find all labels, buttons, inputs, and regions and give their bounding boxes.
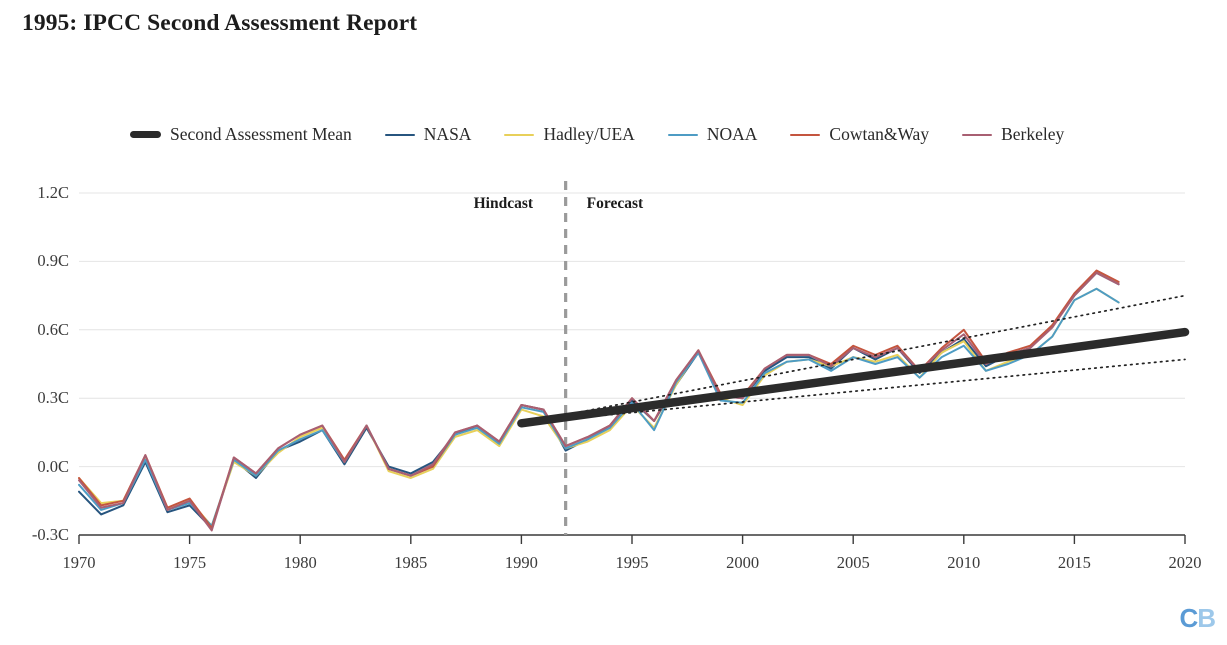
chart-svg: [0, 0, 1227, 645]
x-tick-label: 1995: [597, 553, 667, 573]
projection-upper-bound: [521, 296, 1185, 424]
series-line-hadley-uea: [79, 289, 1119, 526]
series-line-nasa: [79, 273, 1119, 528]
carbon-brief-logo: CB: [1179, 605, 1215, 631]
series-line-noaa: [79, 289, 1119, 526]
y-tick-label: 0.9C: [9, 251, 69, 271]
y-tick-label: 0.6C: [9, 320, 69, 340]
x-tick-label: 2020: [1150, 553, 1220, 573]
series-line-cowtan-way: [79, 271, 1119, 529]
plot-area: -0.3C0.0C0.3C0.6C0.9C1.2C 19701975198019…: [0, 0, 1227, 645]
y-tick-label: 0.0C: [9, 457, 69, 477]
forecast-label: Forecast: [587, 195, 644, 213]
hindcast-label: Hindcast: [474, 195, 533, 213]
x-tick-label: 1985: [376, 553, 446, 573]
x-tick-label: 2010: [929, 553, 999, 573]
x-tick-label: 1975: [155, 553, 225, 573]
y-tick-label: 1.2C: [9, 183, 69, 203]
x-tick-label: 1990: [486, 553, 556, 573]
chart-page: 1995: IPCC Second Assessment Report Seco…: [0, 0, 1227, 645]
x-tick-label: 2015: [1039, 553, 1109, 573]
logo-letter-b: B: [1197, 603, 1215, 633]
y-tick-label: 0.3C: [9, 388, 69, 408]
logo-letter-c: C: [1179, 603, 1197, 633]
series-line-berkeley: [79, 273, 1119, 531]
x-tick-label: 2005: [818, 553, 888, 573]
x-tick-label: 2000: [708, 553, 778, 573]
y-tick-label: -0.3C: [9, 525, 69, 545]
x-tick-label: 1970: [44, 553, 114, 573]
x-tick-label: 1980: [265, 553, 335, 573]
